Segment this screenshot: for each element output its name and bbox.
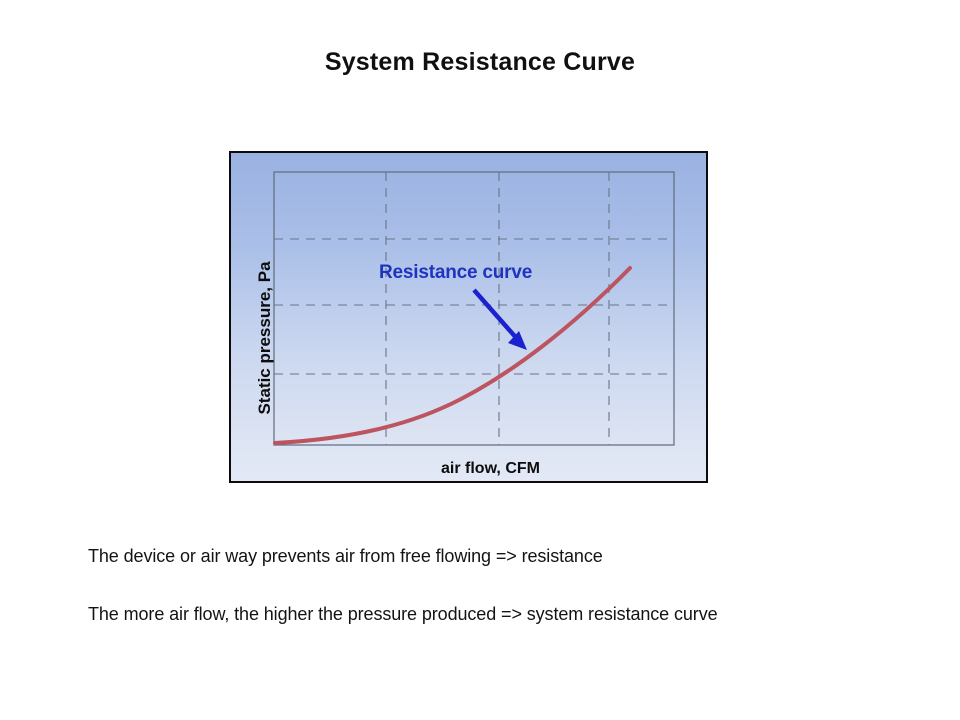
body-paragraph-2: The more air flow, the higher the pressu…	[88, 604, 718, 625]
resistance-curve-line	[275, 268, 630, 443]
body-paragraph-1: The device or air way prevents air from …	[88, 546, 603, 567]
chart-figure: Resistance curve Static pressure, Pa air…	[229, 151, 708, 483]
page-title: System Resistance Curve	[0, 48, 960, 77]
vertical-gridlines	[386, 172, 609, 445]
resistance-curve-annotation-label: Resistance curve	[379, 262, 532, 284]
annotation-arrow	[474, 290, 527, 350]
x-axis-label: air flow, CFM	[275, 460, 706, 478]
y-axis-label: Static pressure, Pa	[255, 238, 275, 438]
horizontal-gridlines	[274, 239, 674, 374]
resistance-curve-chart	[231, 153, 710, 485]
plot-area-border	[274, 172, 674, 445]
